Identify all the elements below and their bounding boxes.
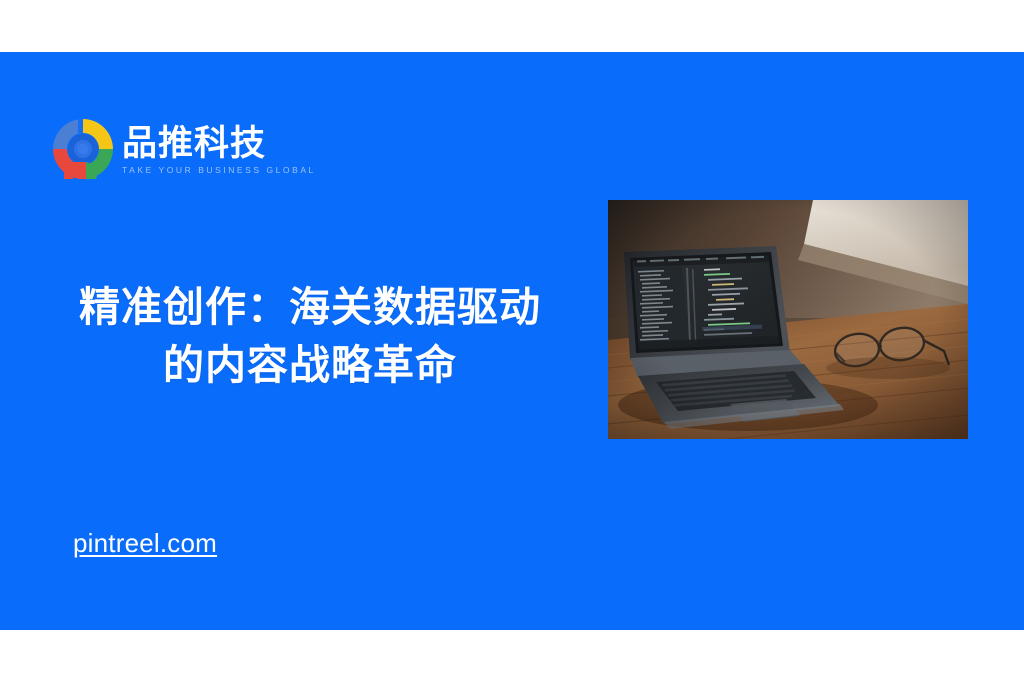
headline-line-2: 的内容战略革命 [20,336,600,394]
hero-photo [608,200,968,439]
brand-wordmark: 品推科技 TAKE YOUR BUSINESS GLOBAL [122,123,316,176]
presentation-slide: 品推科技 TAKE YOUR BUSINESS GLOBAL 精准创作：海关数据… [0,0,1024,683]
brand-name-chinese: 品推科技 [122,125,316,163]
brand-tagline: TAKE YOUR BUSINESS GLOBAL [122,165,316,175]
website-url-link[interactable]: pintreel.com [73,528,217,559]
brand-logo-lockup[interactable]: 品推科技 TAKE YOUR BUSINESS GLOBAL [52,118,316,180]
pintreel-circular-logo-icon [52,118,114,180]
slide-headline: 精准创作：海关数据驱动 的内容战略革命 [20,278,600,394]
headline-line-1: 精准创作：海关数据驱动 [20,278,600,336]
